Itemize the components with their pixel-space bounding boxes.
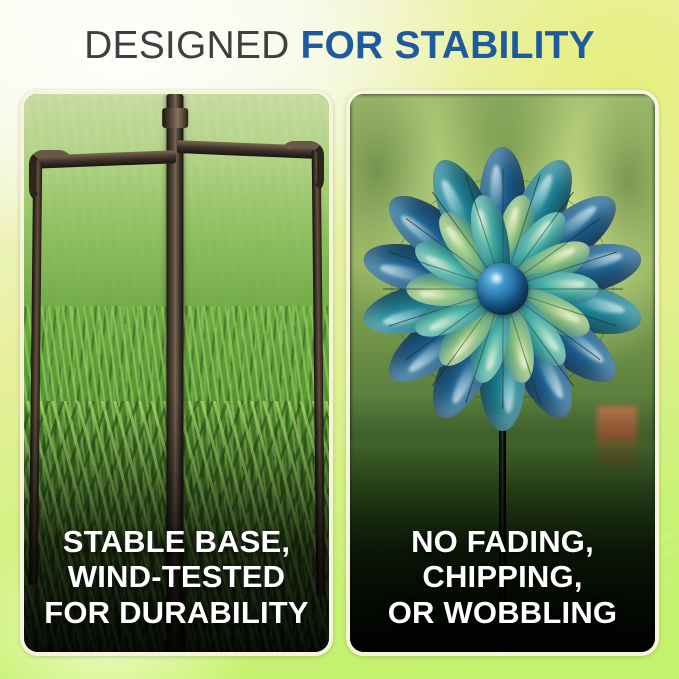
panel-caption-stable-base: STABLE BASE, WIND-TESTED FOR DURABILITY: [30, 524, 323, 630]
caption-line: NO FADING,: [356, 524, 649, 559]
feature-panel-no-fading: NO FADING, CHIPPING, OR WOBBLING: [346, 90, 659, 656]
caption-line: OR WOBBLING: [356, 595, 649, 630]
frame-corner-left: [29, 150, 74, 203]
frame-corner-right: [280, 141, 325, 194]
panel-caption-no-fading: NO FADING, CHIPPING, OR WOBBLING: [356, 524, 649, 630]
caption-line: FOR DURABILITY: [30, 595, 323, 630]
caption-line: WIND-TESTED: [30, 559, 323, 594]
headline-regular-text: DESIGNED: [84, 24, 289, 67]
pole-collar: [162, 108, 188, 128]
caption-line: CHIPPING,: [356, 559, 649, 594]
caption-line: STABLE BASE,: [30, 524, 323, 559]
spinner-hub: [477, 263, 529, 315]
feature-panel-stable-base: STABLE BASE, WIND-TESTED FOR DURABILITY: [20, 90, 333, 656]
headline-bold-text: FOR STABILITY: [301, 24, 595, 67]
product-infographic: DESIGNED FOR STABILITY STABLE BA: [0, 0, 679, 679]
feature-panels: STABLE BASE, WIND-TESTED FOR DURABILITY: [20, 90, 659, 656]
headline: DESIGNED FOR STABILITY: [0, 26, 679, 65]
